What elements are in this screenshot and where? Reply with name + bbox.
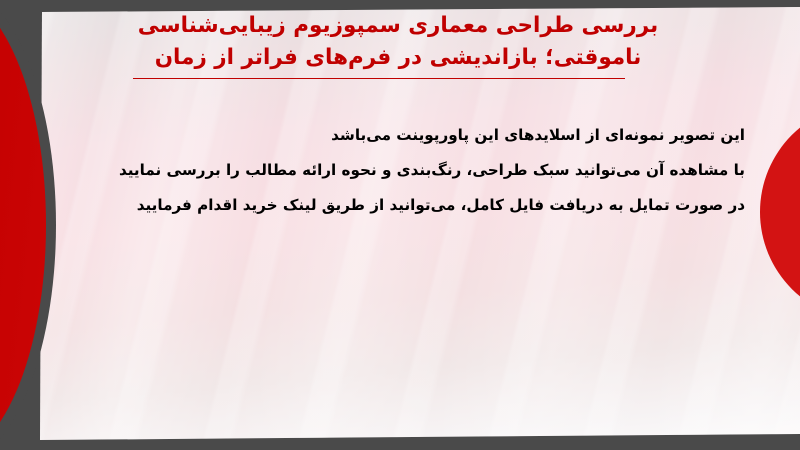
slide-title: بررسی طراحی معماری سمپوزیوم زیبایی‌شناسی…: [48, 10, 748, 74]
slide-title-line-1: بررسی طراحی معماری سمپوزیوم زیبایی‌شناسی: [48, 10, 748, 42]
body-line-1: این تصویر نمونه‌ای از اسلایدهای این پاور…: [45, 118, 745, 153]
presentation-slide: بررسی طراحی معماری سمپوزیوم زیبایی‌شناسی…: [0, 0, 800, 450]
title-underline-rule: [133, 78, 625, 79]
body-line-3: در صورت تمایل به دریافت فایل کامل، می‌تو…: [45, 188, 745, 223]
slide-body-text: این تصویر نمونه‌ای از اسلایدهای این پاور…: [45, 118, 745, 223]
slide-title-line-2: ناموقتی؛ بازاندیشی در فرم‌های فراتر از ز…: [48, 42, 748, 74]
body-line-2: با مشاهده آن می‌توانید سبک طراحی، رنگ‌بن…: [45, 153, 745, 188]
